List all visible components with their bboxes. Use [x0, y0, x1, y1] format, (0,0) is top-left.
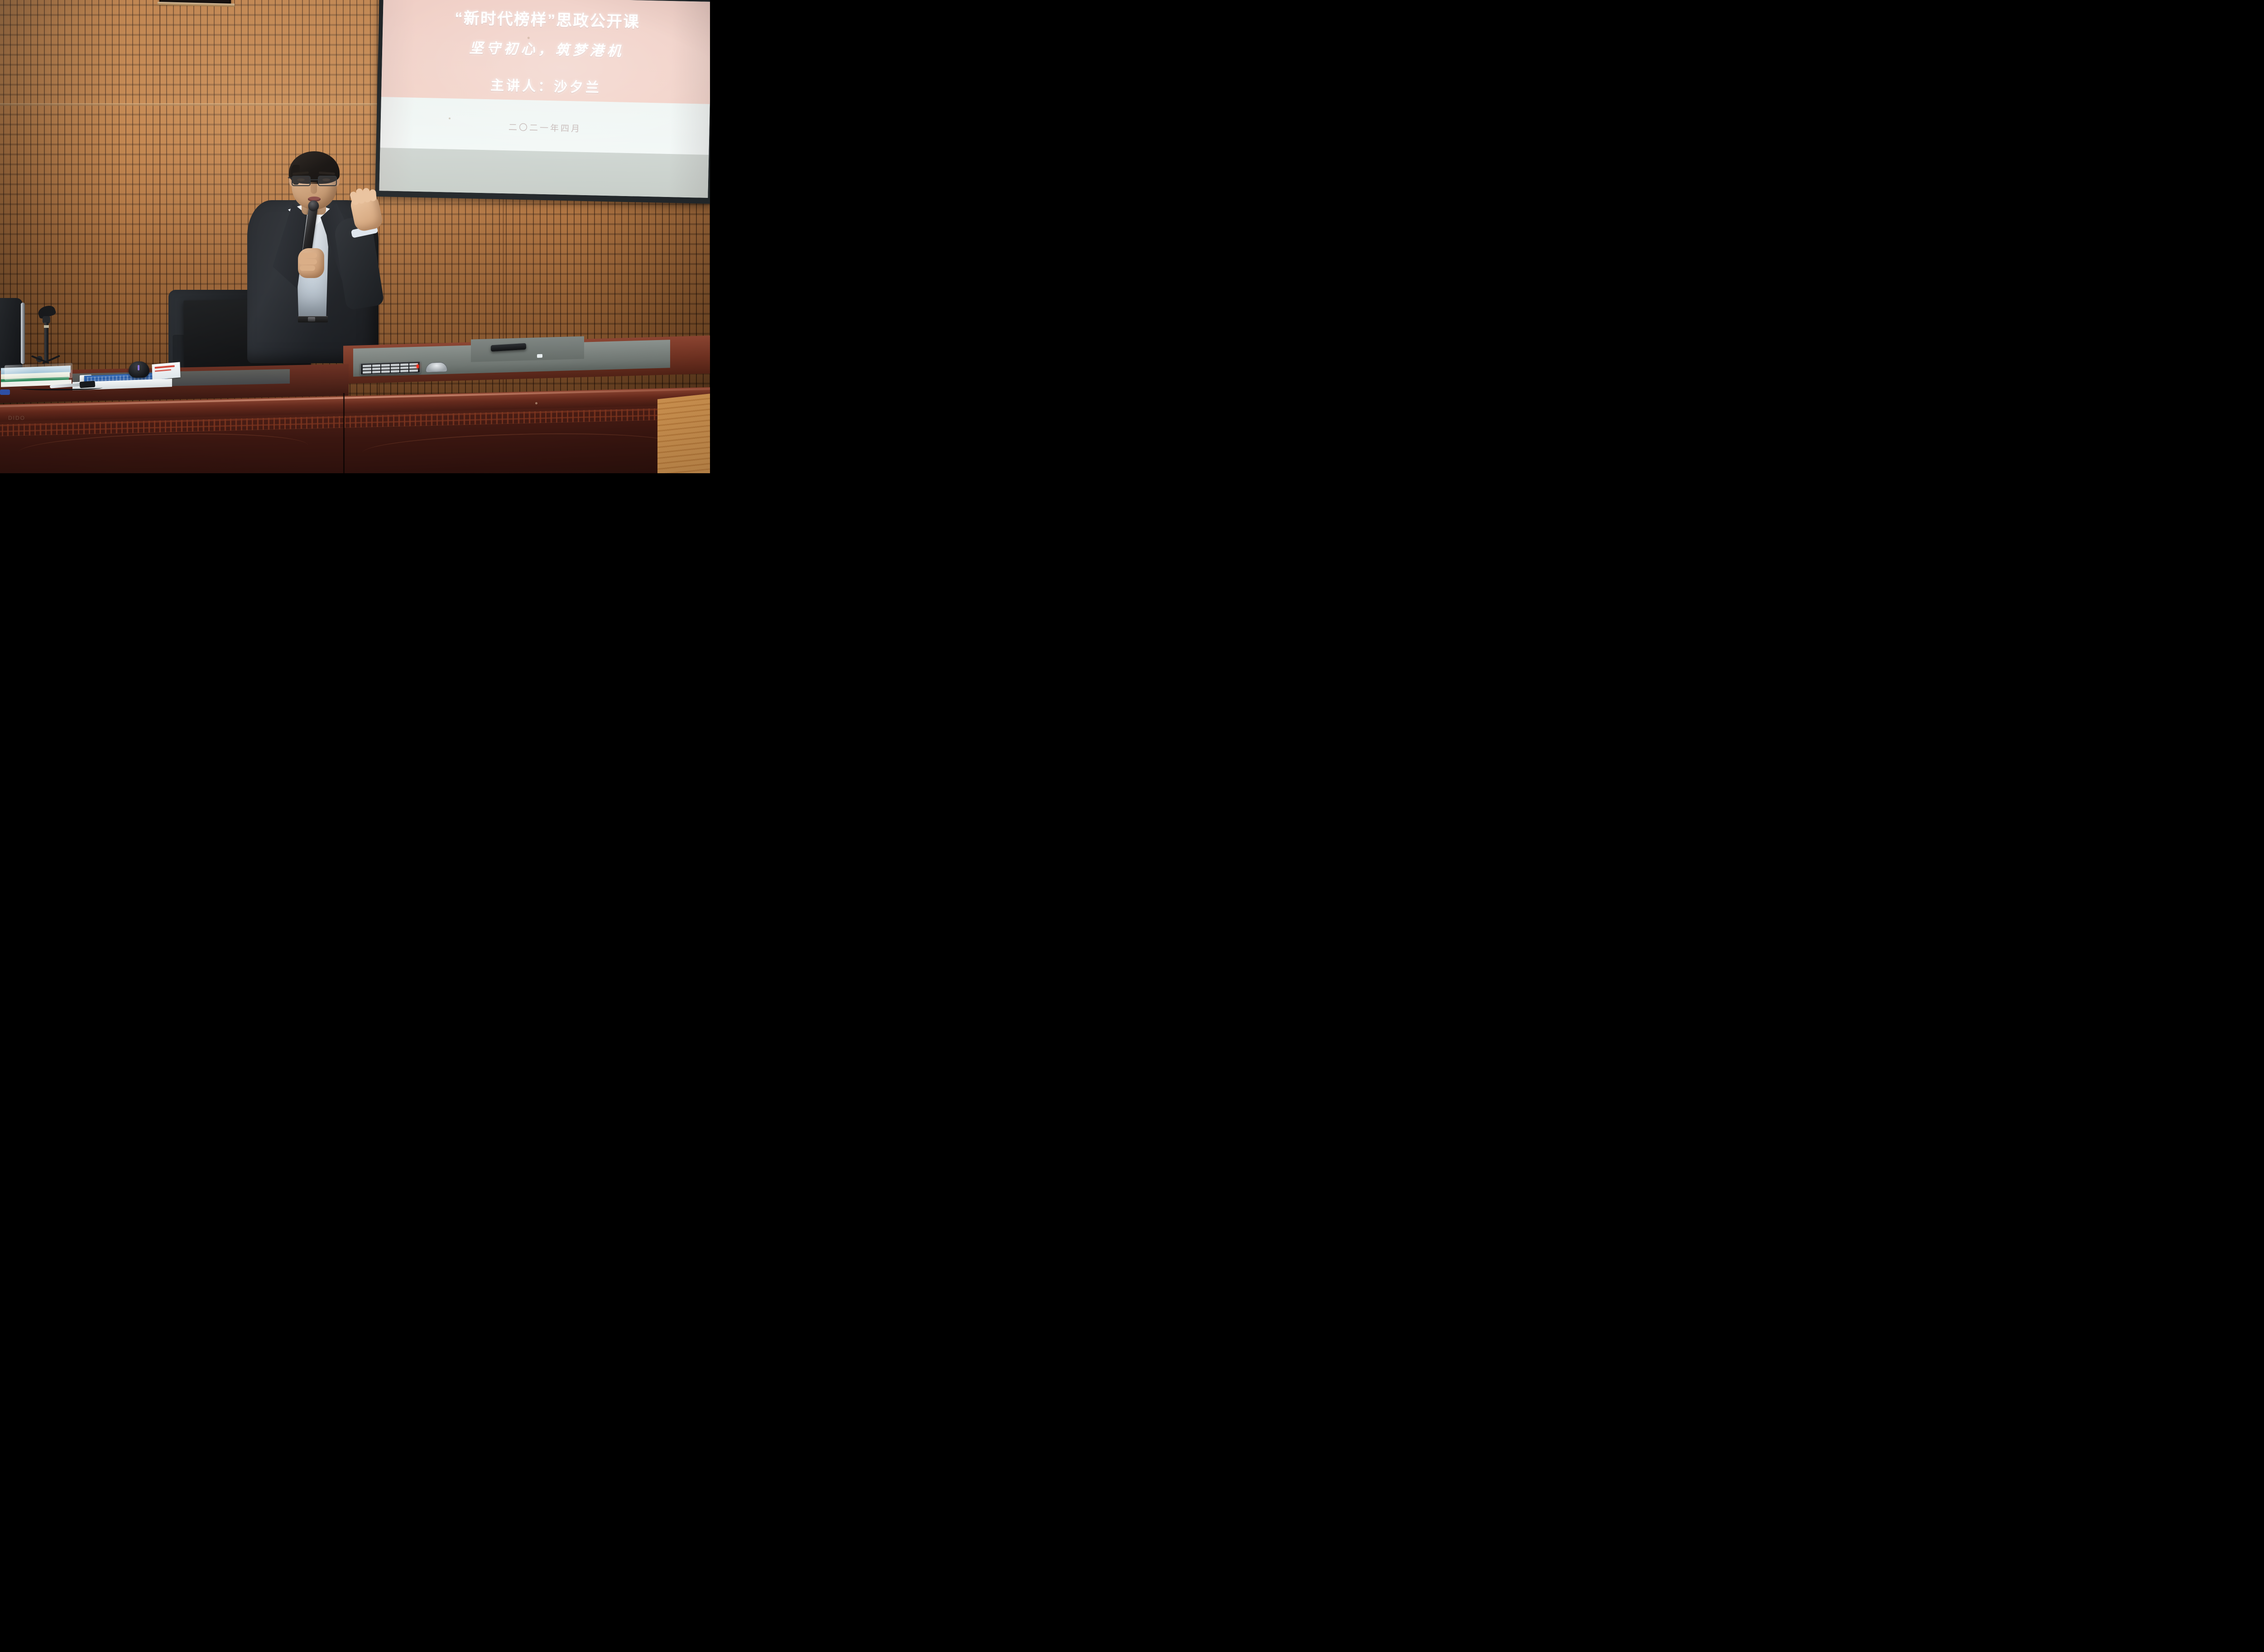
control-button[interactable] [381, 367, 390, 370]
belt-buckle [308, 317, 315, 322]
finger [369, 189, 377, 202]
control-button[interactable] [391, 370, 399, 373]
slide-date: 二〇二一年四月 [380, 118, 709, 137]
control-button[interactable] [400, 364, 409, 366]
finger [299, 253, 317, 258]
mouse-led [138, 365, 139, 370]
control-button[interactable] [400, 370, 409, 373]
desk-screw [535, 402, 537, 404]
paper-red-text [155, 365, 175, 369]
desk-section-split [343, 393, 345, 473]
control-button[interactable] [363, 371, 371, 374]
finger [299, 259, 317, 264]
wood-floor [657, 391, 710, 473]
mic-stand-pole [44, 322, 48, 361]
control-button[interactable] [381, 370, 390, 373]
book-stack [1, 367, 73, 386]
speaker-figure [245, 149, 385, 362]
desk-logo: DIDO [8, 415, 36, 421]
control-button[interactable] [381, 364, 390, 367]
av-control-panel[interactable] [360, 361, 420, 375]
lens-right [318, 176, 337, 186]
paper-red-text [155, 369, 171, 372]
finger [300, 265, 315, 271]
control-button[interactable] [363, 365, 371, 367]
control-button[interactable] [391, 364, 399, 366]
power-led-indicator [417, 365, 419, 368]
blue-cap-object [0, 389, 10, 395]
trackball-pad[interactable] [426, 362, 447, 373]
glasses-bridge [311, 179, 318, 180]
mic-stand-band [44, 325, 49, 328]
paper-note [152, 362, 180, 379]
control-button[interactable] [391, 367, 399, 370]
projection-screen-surface: “新时代榜样”思政公开课 坚守初心，筑梦港机 主讲人：沙夕兰 二〇二一年四月 [379, 0, 710, 198]
small-white-object [537, 354, 542, 358]
desk-mat-right-upper [471, 336, 584, 362]
control-button[interactable] [363, 368, 371, 370]
hand-holding-microphone [298, 248, 324, 278]
presentation-slide: “新时代榜样”思政公开课 坚守初心，筑梦港机 主讲人：沙夕兰 二〇二一年四月 [379, 0, 710, 198]
control-button[interactable] [372, 368, 381, 370]
chair-chrome-arm [21, 303, 25, 364]
control-button[interactable] [372, 365, 381, 367]
projection-screen-frame: “新时代榜样”思政公开课 坚守初心，筑梦港机 主讲人：沙夕兰 二〇二一年四月 [375, 0, 710, 204]
plastic-wrap [5, 363, 72, 380]
photo-scene: “新时代榜样”思政公开课 坚守初心，筑梦港机 主讲人：沙夕兰 二〇二一年四月 [0, 0, 710, 473]
lens-left [292, 176, 311, 186]
control-button[interactable] [409, 370, 418, 372]
slide-subtitle: 坚守初心，筑梦港机 [382, 34, 710, 62]
slide-presenter: 主讲人：沙夕兰 [381, 72, 710, 99]
screen-blemish [449, 117, 451, 119]
control-button[interactable] [372, 371, 381, 374]
screen-blemish [528, 37, 530, 39]
control-button[interactable] [400, 367, 409, 370]
computer-mouse [129, 361, 149, 378]
nose [311, 182, 317, 194]
slide-title: “新时代榜样”思政公开课 [383, 4, 710, 34]
